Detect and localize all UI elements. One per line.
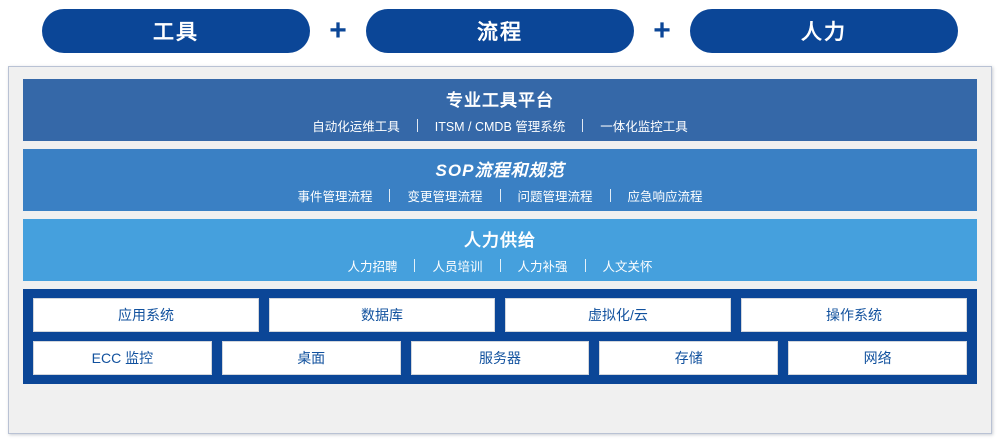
band-tools-item-1[interactable]: 自动化运维工具 (295, 116, 417, 135)
band-process: SOP流程和规范 事件管理流程 变更管理流程 问题管理流程 应急响应流程 (23, 149, 977, 211)
pill-tools-label: 工具 (153, 16, 199, 46)
tile-network[interactable]: 网络 (788, 341, 967, 375)
pill-tools[interactable]: 工具 (42, 9, 310, 53)
band-people-item-3[interactable]: 人力补强 (501, 256, 585, 275)
band-process-title: SOP流程和规范 (436, 156, 565, 181)
band-process-item-3[interactable]: 问题管理流程 (501, 186, 610, 205)
tile-database[interactable]: 数据库 (269, 298, 495, 332)
band-process-items: 事件管理流程 变更管理流程 问题管理流程 应急响应流程 (280, 186, 719, 205)
infrastructure-row-1: 应用系统 数据库 虚拟化/云 操作系统 (33, 298, 967, 332)
band-people-title: 人力供给 (464, 226, 536, 251)
band-people-item-2[interactable]: 人员培训 (415, 256, 499, 275)
band-tools-item-2[interactable]: ITSM / CMDB 管理系统 (418, 116, 583, 135)
band-tools-items: 自动化运维工具 ITSM / CMDB 管理系统 一体化监控工具 (295, 116, 705, 135)
tile-storage[interactable]: 存储 (599, 341, 778, 375)
pill-people-label: 人力 (801, 16, 847, 46)
tile-desktop[interactable]: 桌面 (222, 341, 401, 375)
tile-operating-system[interactable]: 操作系统 (741, 298, 967, 332)
tile-ecc-monitoring[interactable]: ECC 监控 (33, 341, 212, 375)
pill-process[interactable]: 流程 (366, 9, 634, 53)
infrastructure-panel: 应用系统 数据库 虚拟化/云 操作系统 ECC 监控 桌面 服务器 存储 网络 (23, 289, 977, 384)
pill-people[interactable]: 人力 (690, 9, 958, 53)
capability-pill-row: 工具 + 流程 + 人力 (0, 0, 1000, 62)
plus-separator-1: + (310, 16, 366, 46)
band-tools-item-3[interactable]: 一体化监控工具 (583, 116, 705, 135)
band-people-item-1[interactable]: 人力招聘 (330, 256, 414, 275)
tile-virtualization-cloud[interactable]: 虚拟化/云 (505, 298, 731, 332)
tile-server[interactable]: 服务器 (411, 341, 590, 375)
band-people-items: 人力招聘 人员培训 人力补强 人文关怀 (330, 256, 669, 275)
infrastructure-row-2: ECC 监控 桌面 服务器 存储 网络 (33, 341, 967, 375)
band-process-item-2[interactable]: 变更管理流程 (390, 186, 499, 205)
band-process-item-1[interactable]: 事件管理流程 (280, 186, 389, 205)
tile-application-system[interactable]: 应用系统 (33, 298, 259, 332)
plus-separator-2: + (634, 16, 690, 46)
band-process-item-4[interactable]: 应急响应流程 (611, 186, 720, 205)
band-people-item-4[interactable]: 人文关怀 (586, 256, 670, 275)
band-tools: 专业工具平台 自动化运维工具 ITSM / CMDB 管理系统 一体化监控工具 (23, 79, 977, 141)
pill-process-label: 流程 (477, 16, 523, 46)
capability-frame: 专业工具平台 自动化运维工具 ITSM / CMDB 管理系统 一体化监控工具 … (8, 66, 992, 434)
band-people: 人力供给 人力招聘 人员培训 人力补强 人文关怀 (23, 219, 977, 281)
band-tools-title: 专业工具平台 (446, 86, 554, 111)
